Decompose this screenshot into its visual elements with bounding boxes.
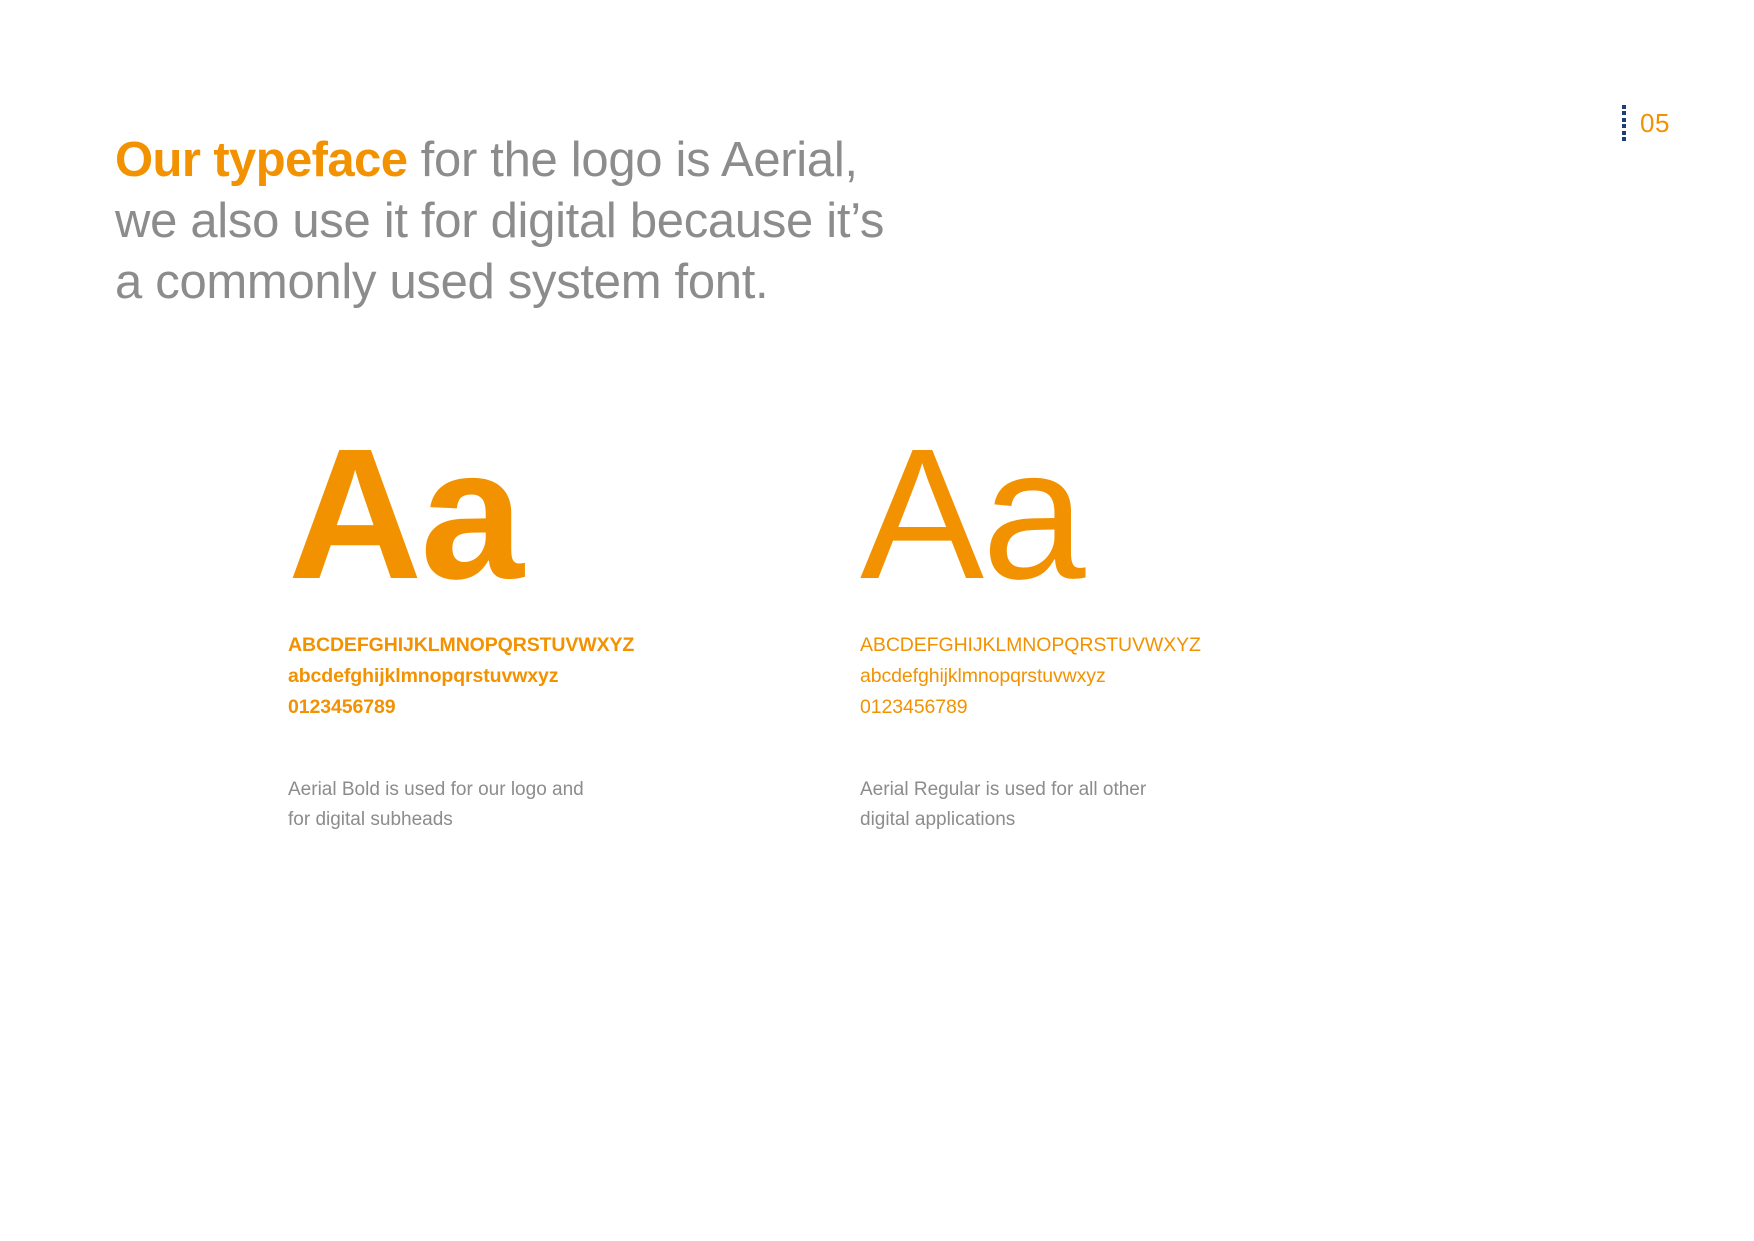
charset-numerals: 0123456789 [288,692,688,723]
charset-uppercase: ABCDEFGHIJKLMNOPQRSTUVWXYZ [288,630,688,661]
specimen-glyph-regular: Aa [860,440,1260,590]
caption-line-2: digital applications [860,805,1260,835]
typeface-specimens: Aa ABCDEFGHIJKLMNOPQRSTUVWXYZ abcdefghij… [288,440,1260,854]
slide-page: 05 Our typeface for the logo is Aerial, … [0,0,1754,1241]
headline-line-1: Our typeface for the logo is Aerial, [115,130,1115,191]
page-marker: 05 [1622,101,1670,145]
caption-line-2: for digital subheads [288,805,688,835]
caption-line-1: Aerial Regular is used for all other [860,775,1260,805]
caption-line-1: Aerial Bold is used for our logo and [288,775,688,805]
headline-line-1-rest: for the logo is Aerial, [407,133,857,187]
charset-numerals: 0123456789 [860,692,1260,723]
page-number: 05 [1640,110,1670,136]
charset-bold: ABCDEFGHIJKLMNOPQRSTUVWXYZ abcdefghijklm… [288,630,688,723]
charset-lowercase: abcdefghijklmnopqrstuvwxyz [288,661,688,692]
charset-regular: ABCDEFGHIJKLMNOPQRSTUVWXYZ abcdefghijklm… [860,630,1260,723]
specimen-bold: Aa ABCDEFGHIJKLMNOPQRSTUVWXYZ abcdefghij… [288,440,688,854]
headline-accent: Our typeface [115,133,407,187]
charset-uppercase: ABCDEFGHIJKLMNOPQRSTUVWXYZ [860,630,1260,661]
dotted-vertical-rule-icon [1622,105,1626,141]
charset-lowercase: abcdefghijklmnopqrstuvwxyz [860,661,1260,692]
specimen-regular: Aa ABCDEFGHIJKLMNOPQRSTUVWXYZ abcdefghij… [860,440,1260,854]
headline-line-3: a commonly used system font. [115,252,1115,313]
specimen-caption-regular: Aerial Regular is used for all other dig… [860,775,1260,835]
page-title: Our typeface for the logo is Aerial, we … [115,130,1115,313]
specimen-caption-bold: Aerial Bold is used for our logo and for… [288,775,688,835]
specimen-glyph-bold: Aa [288,440,688,590]
headline-line-2: we also use it for digital because it’s [115,191,1115,252]
